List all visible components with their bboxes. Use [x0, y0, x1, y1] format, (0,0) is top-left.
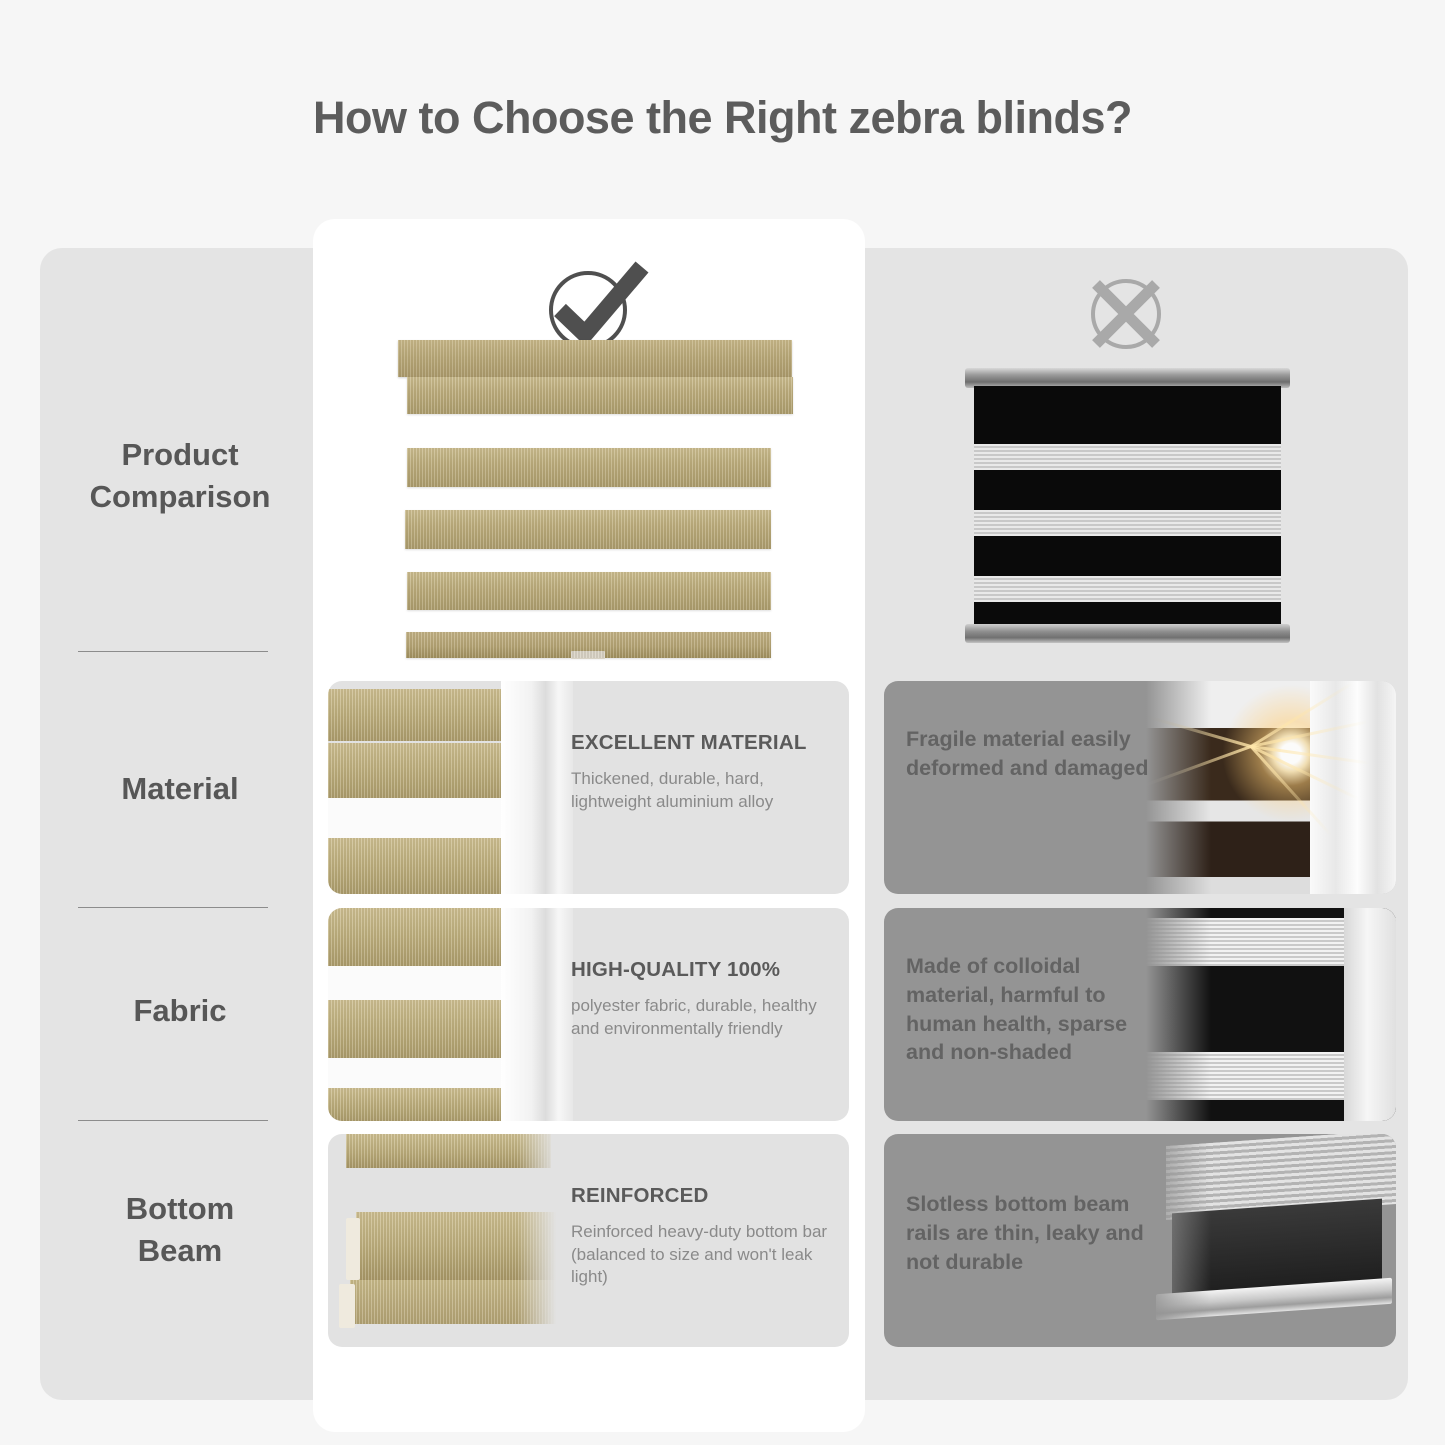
feature-heading: REINFORCED — [571, 1184, 833, 1208]
row-label-line1: Bottom — [40, 1188, 320, 1230]
blind-sheer-band — [974, 576, 1281, 602]
good-material-photo — [328, 681, 573, 894]
bad-feature-card-material: Fragile material easily deformed and dam… — [884, 681, 1396, 894]
infographic-page: How to Choose the Right zebra blinds? Pr… — [0, 0, 1445, 1445]
row-label-fabric: Fabric — [40, 990, 320, 1032]
good-feature-card-fabric: HIGH-QUALITY 100% polyester fabric, dura… — [328, 908, 849, 1121]
bad-hero-blind-image — [965, 368, 1290, 643]
blind-sheer-band — [974, 444, 1281, 470]
bottom-bar-pull — [571, 651, 605, 659]
feature-heading: EXCELLENT MATERIAL — [571, 731, 833, 755]
feature-heading: HIGH-QUALITY 100% — [571, 958, 833, 982]
row-label-product-comparison: Product Comparison — [40, 434, 320, 517]
bad-material-photo — [1146, 681, 1396, 894]
blind-bottom-bar — [406, 632, 771, 658]
x-mark-icon — [1072, 268, 1180, 360]
row-label-line1: Fabric — [40, 990, 320, 1032]
bad-bottom-beam-text: Slotless bottom beam rails are thin, lea… — [906, 1190, 1158, 1276]
blind-body — [974, 386, 1281, 624]
blind-bottom-rail — [965, 624, 1290, 643]
good-fabric-photo — [328, 908, 573, 1121]
blind-band — [407, 377, 793, 414]
good-bottom-beam-photo — [328, 1134, 573, 1347]
blind-headrail — [398, 340, 792, 377]
feature-body: Thickened, durable, hard, lightweight al… — [571, 768, 833, 813]
window-frame — [501, 908, 573, 1121]
row-divider-2 — [78, 907, 268, 908]
good-bottom-beam-text: REINFORCED Reinforced heavy-duty bottom … — [571, 1184, 833, 1289]
bad-material-text: Fragile material easily deformed and dam… — [906, 725, 1158, 783]
good-feature-card-bottom-beam: REINFORCED Reinforced heavy-duty bottom … — [328, 1134, 849, 1347]
row-label-line2: Beam — [40, 1230, 320, 1272]
row-label-line1: Product — [40, 434, 320, 476]
blind-top-rail — [965, 368, 1290, 388]
window-frame — [501, 681, 573, 894]
row-label-bottom-beam: Bottom Beam — [40, 1188, 320, 1271]
blind-sheer-band — [974, 510, 1281, 536]
good-hero-blind-image — [385, 340, 800, 665]
blind-band — [407, 448, 771, 487]
row-label-line2: Comparison — [40, 476, 320, 518]
good-material-text: EXCELLENT MATERIAL Thickened, durable, h… — [571, 731, 833, 813]
blind-band — [407, 572, 771, 610]
row-divider-3 — [78, 1120, 268, 1121]
bad-feature-card-bottom-beam: Slotless bottom beam rails are thin, lea… — [884, 1134, 1396, 1347]
row-label-column: Product Comparison Material Fabric Botto… — [40, 248, 320, 1400]
feature-body: Reinforced heavy-duty bottom bar (balanc… — [571, 1221, 833, 1289]
bad-feature-card-fabric: Made of colloidal material, harmful to h… — [884, 908, 1396, 1121]
page-title: How to Choose the Right zebra blinds? — [0, 92, 1445, 144]
good-fabric-text: HIGH-QUALITY 100% polyester fabric, dura… — [571, 958, 833, 1040]
feature-body: polyester fabric, durable, healthy and e… — [571, 995, 833, 1040]
row-label-line1: Material — [40, 768, 320, 810]
row-divider-1 — [78, 651, 268, 652]
bad-fabric-photo — [1146, 908, 1396, 1121]
good-feature-card-material: EXCELLENT MATERIAL Thickened, durable, h… — [328, 681, 849, 894]
blind-band — [405, 510, 771, 549]
row-label-material: Material — [40, 768, 320, 810]
bad-fabric-text: Made of colloidal material, harmful to h… — [906, 952, 1158, 1067]
bad-bottom-beam-photo — [1146, 1134, 1396, 1347]
